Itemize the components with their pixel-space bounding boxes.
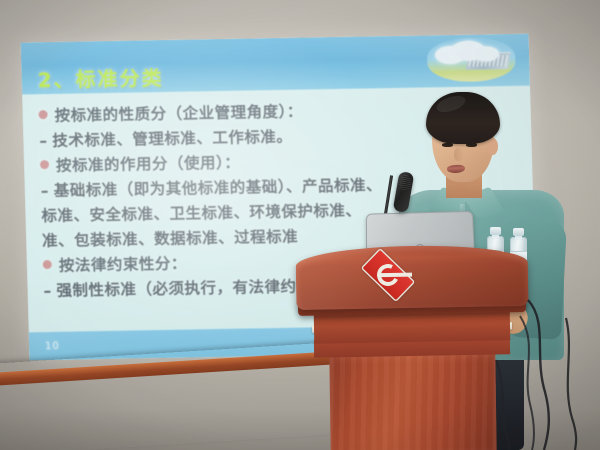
presenter-ear — [488, 138, 498, 155]
slide-title: 2、标准分类 — [37, 62, 164, 93]
dash-marker-icon: – — [43, 279, 54, 304]
presentation-photo: 2、标准分类 按标准的性质分（企业管理角度）： – 技术标准、管理标准、工作标准… — [0, 0, 600, 450]
dash-marker-icon: – — [40, 179, 51, 204]
slide-line-text: 按法律约束性分： — [59, 252, 188, 279]
presenter-nose — [454, 148, 463, 161]
wooden-lectern — [296, 246, 528, 450]
dash-marker-icon: – — [39, 129, 50, 154]
lectern-column-upper — [314, 310, 510, 343]
diamond-c-emblem — [353, 254, 424, 295]
slide-page-number: 10 — [45, 341, 60, 352]
slide-line-text: 技术标准、管理标准、工作标准。 — [52, 125, 293, 154]
bullet-dot-icon — [40, 160, 49, 169]
slide-line-text: 按标准的作用分（使用）： — [56, 151, 241, 179]
slide-line-text: 准、包装标准、数据标准、过程标准 — [42, 225, 299, 254]
lectern-base — [329, 351, 496, 450]
clouds-building-artwork — [427, 37, 516, 83]
presenter-hair — [426, 92, 500, 144]
bullet-dot-icon — [43, 260, 52, 269]
bullet-dot-icon — [38, 110, 47, 119]
